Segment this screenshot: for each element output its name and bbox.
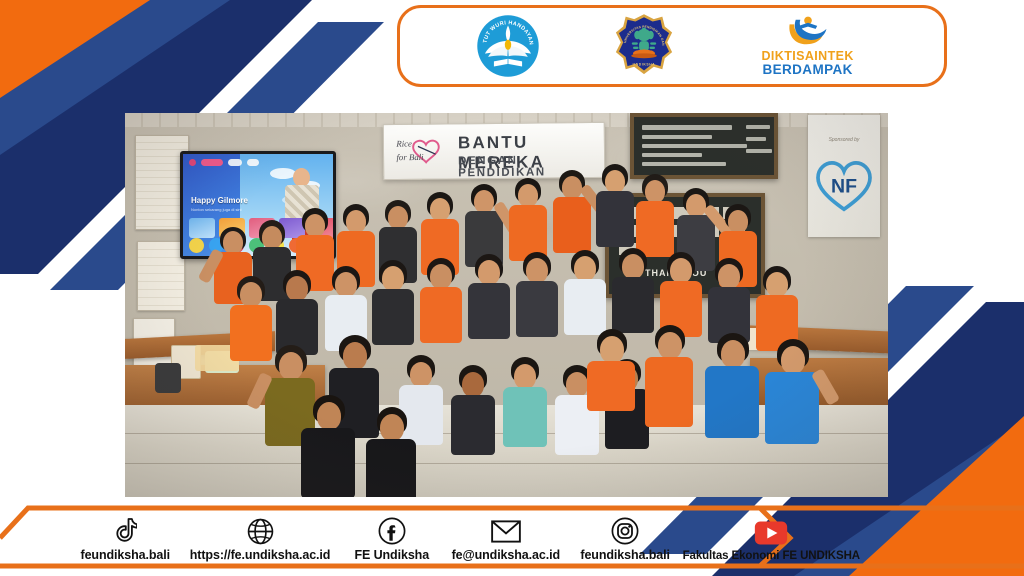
bag-item xyxy=(155,363,181,393)
footer-label-youtube: Fakultas Ekonomi FE UNDIKSHA xyxy=(683,550,860,562)
footer-item-instagram[interactable]: feundiksha.bali xyxy=(568,516,683,562)
wall-poster-2 xyxy=(137,241,185,311)
footer-label-website: https://fe.undiksha.ac.id xyxy=(190,548,331,562)
header-logo-bar: TUT WURI HANDAYANI xyxy=(397,5,947,87)
diktisaintek-line2: BERDAMPAK xyxy=(762,63,852,77)
footer-item-email[interactable]: fe@undiksha.ac.id xyxy=(444,516,568,562)
instagram-icon xyxy=(611,516,639,546)
email-icon xyxy=(491,516,521,546)
svg-text:NF: NF xyxy=(831,176,857,198)
footer-social-links: feundiksha.bali https://fe.undiksha.ac.i… xyxy=(70,510,860,562)
footer-label-instagram: feundiksha.bali xyxy=(580,548,670,562)
group-photo-classroom: Happy Gilmore Nonton sekarang juga di si… xyxy=(125,113,888,497)
footer-item-facebook[interactable]: FE Undiksha xyxy=(340,516,444,562)
svg-text:Rice: Rice xyxy=(395,138,412,148)
tv-title: Happy Gilmore xyxy=(191,196,248,205)
footer-item-website[interactable]: https://fe.undiksha.ac.id xyxy=(181,516,340,562)
tut-wuri-handayani-logo: TUT WURI HANDAYANI xyxy=(476,14,540,78)
nf-sponsor-label: Sponsored by xyxy=(829,137,860,143)
svg-text:UNDIKSHA: UNDIKSHA xyxy=(633,63,656,67)
blackboard-upper xyxy=(630,113,778,179)
rice-for-bali-logo: Rice for Bali xyxy=(394,132,450,173)
footer-item-youtube[interactable]: Fakultas Ekonomi FE UNDIKSHA xyxy=(683,518,860,562)
footer-label-tiktok: feundiksha.bali xyxy=(81,548,171,562)
tiktok-icon xyxy=(113,516,137,546)
banner-canvas: TUT WURI HANDAYANI xyxy=(0,0,1024,576)
nf-sponsor-banner: Sponsored by NF xyxy=(808,115,880,237)
globe-icon xyxy=(247,516,274,546)
footer-item-tiktok[interactable]: feundiksha.bali xyxy=(70,516,181,562)
svg-text:for Bali: for Bali xyxy=(396,152,424,162)
facebook-icon xyxy=(378,516,406,546)
diktisaintek-mark-icon xyxy=(785,15,831,49)
diktisaintek-line1: DIKTISAINTEK xyxy=(761,50,853,63)
nf-heart-icon: NF xyxy=(816,161,872,213)
undiksha-logo: UNIVERSITAS PENDIDIKAN GANESHA xyxy=(613,13,675,79)
tv-subtitle: Nonton sekarang juga di sini xyxy=(191,207,241,212)
footer-label-facebook: FE Undiksha xyxy=(354,548,429,562)
youtube-icon xyxy=(754,518,788,548)
footer-label-email: fe@undiksha.ac.id xyxy=(452,548,560,562)
diktisaintek-berdampak-logo: DIKTISAINTEK BERDAMPAK xyxy=(748,15,868,77)
